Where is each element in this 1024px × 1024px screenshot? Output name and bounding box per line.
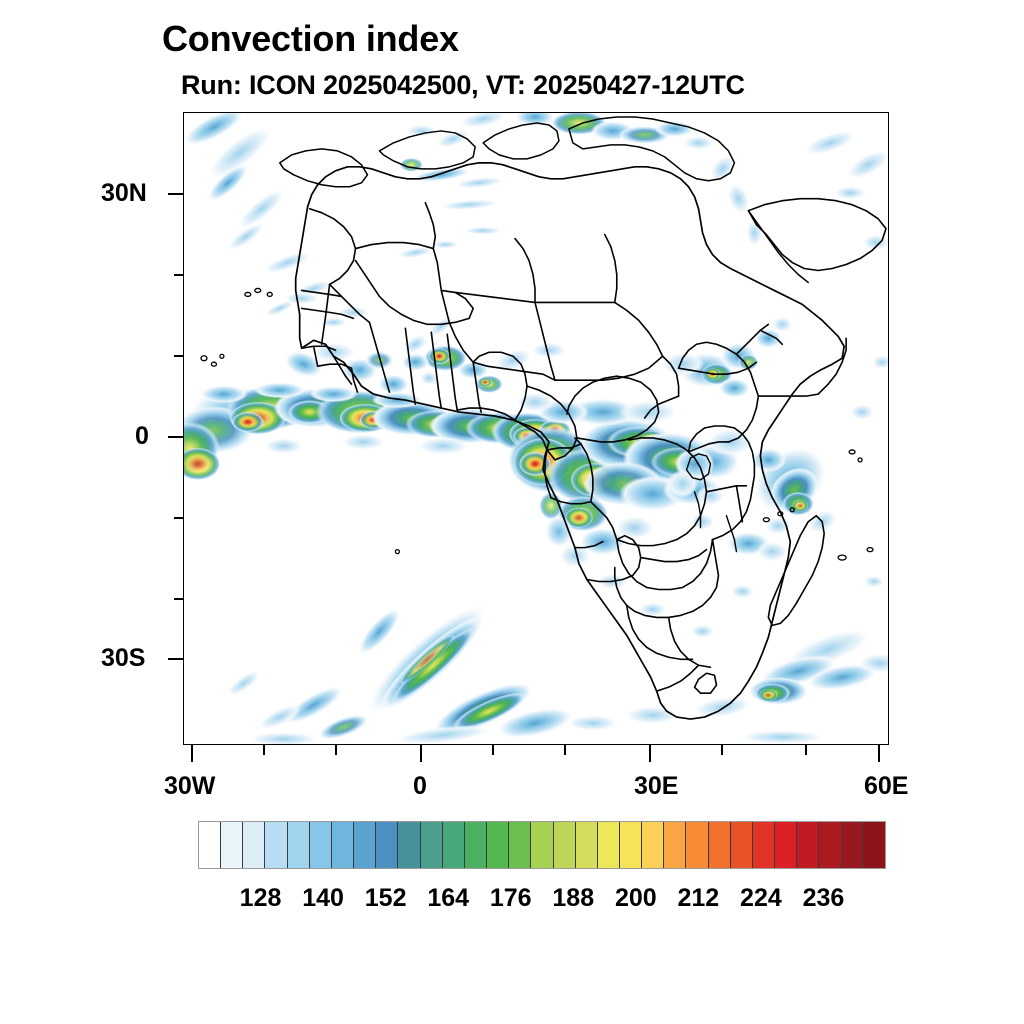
colorbar-tick-label: 164 <box>427 884 469 913</box>
y-tick-minor-20s <box>174 598 184 600</box>
colorbar-tick-label: 140 <box>302 884 344 913</box>
colorbar-cell <box>421 822 443 868</box>
colorbar-cell <box>354 822 376 868</box>
y-tick-major-30s <box>168 658 184 660</box>
x-tick-major-60e <box>878 745 880 762</box>
colorbar-cell <box>709 822 731 868</box>
y-tick-major-30n <box>168 193 184 195</box>
colorbar-cell <box>509 822 531 868</box>
colorbar-cell <box>731 822 753 868</box>
x-axis-label-60e: 60E <box>864 772 908 801</box>
colorbar-cell <box>487 822 509 868</box>
colorbar-cell <box>819 822 841 868</box>
colorbar-cell <box>265 822 287 868</box>
colorbar-cell <box>864 822 885 868</box>
colorbar-tick-label: 200 <box>615 884 657 913</box>
colorbar-cell <box>797 822 819 868</box>
colorbar-cell <box>554 822 576 868</box>
colorbar-cell <box>398 822 420 868</box>
colorbar-cell <box>598 822 620 868</box>
colorbar-cell <box>443 822 465 868</box>
page-title: Convection index <box>162 18 459 60</box>
colorbar-tick-label: 176 <box>490 884 532 913</box>
colorbar-cell <box>620 822 642 868</box>
colorbar-tick-label: 212 <box>678 884 720 913</box>
y-tick-minor-10s <box>174 517 184 519</box>
y-tick-minor-20n <box>174 274 184 276</box>
colorbar-cell <box>288 822 310 868</box>
colorbar-cell <box>376 822 398 868</box>
x-tick-minor-50e <box>805 745 807 755</box>
colorbar-tick-label: 188 <box>552 884 594 913</box>
x-tick-major-30e <box>649 745 651 762</box>
colorbar-cell <box>465 822 487 868</box>
x-axis-label-0: 0 <box>413 772 427 801</box>
colorbar-cell <box>531 822 553 868</box>
colorbar[interactable] <box>198 821 886 869</box>
colorbar-tick-label: 236 <box>803 884 845 913</box>
x-tick-major-30w <box>191 745 193 762</box>
colorbar-cell <box>221 822 243 868</box>
x-tick-major-0 <box>420 745 422 762</box>
x-tick-minor-10w <box>335 745 337 755</box>
x-tick-minor-40e <box>721 745 723 755</box>
map-canvas <box>184 113 888 744</box>
colorbar-cell <box>686 822 708 868</box>
colorbar-cell <box>842 822 864 868</box>
x-tick-minor-10e <box>492 745 494 755</box>
y-tick-major-0 <box>168 436 184 438</box>
colorbar-cell <box>775 822 797 868</box>
colorbar-cell <box>310 822 332 868</box>
y-axis-label-0: 0 <box>135 422 149 451</box>
colorbar-cell <box>753 822 775 868</box>
x-axis-label-30e: 30E <box>634 772 678 801</box>
convection-index-figure: Convection index Run: ICON 2025042500, V… <box>0 0 1024 1024</box>
y-tick-minor-10n <box>174 355 184 357</box>
colorbar-tick-label: 128 <box>240 884 282 913</box>
y-axis-label-30s: 30S <box>101 644 145 673</box>
colorbar-cell <box>332 822 354 868</box>
x-tick-minor-20e <box>564 745 566 755</box>
page-subtitle: Run: ICON 2025042500, VT: 20250427-12UTC <box>181 70 745 101</box>
colorbar-tick-label: 224 <box>740 884 782 913</box>
map-plot-area <box>183 112 889 745</box>
x-tick-minor-20w <box>263 745 265 755</box>
x-axis-label-30w: 30W <box>164 772 215 801</box>
colorbar-cell <box>664 822 686 868</box>
y-axis-label-30n: 30N <box>101 179 147 208</box>
colorbar-cell <box>199 822 221 868</box>
colorbar-cell <box>642 822 664 868</box>
colorbar-cell <box>576 822 598 868</box>
colorbar-cell <box>243 822 265 868</box>
colorbar-tick-label: 152 <box>365 884 407 913</box>
